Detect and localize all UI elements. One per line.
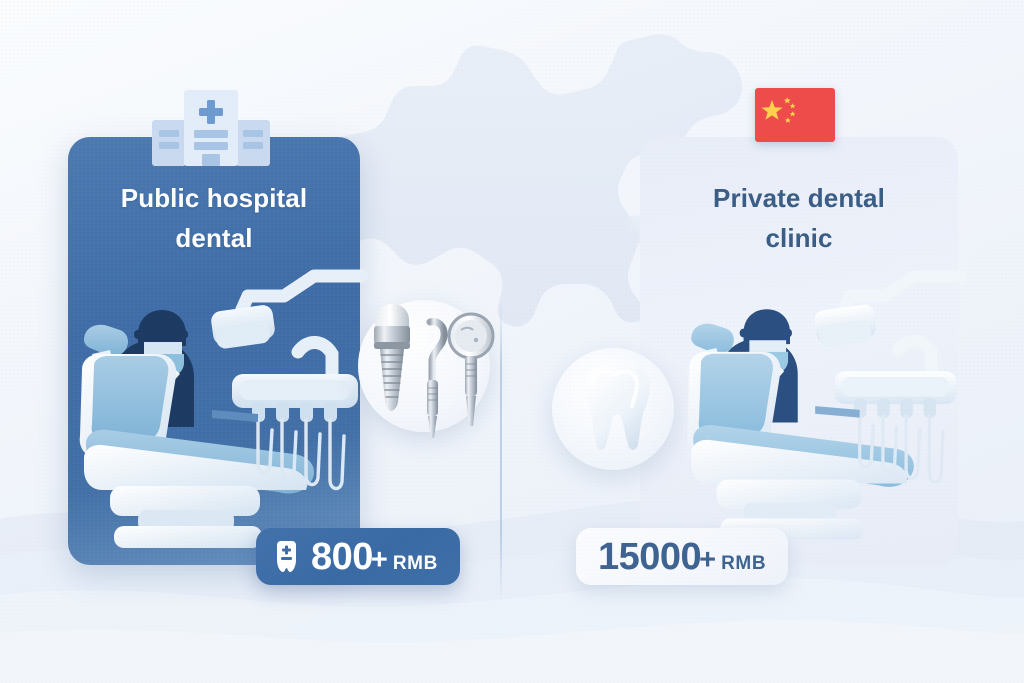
private-clinic-title-line1: Private dental [713, 183, 885, 213]
dental-implant-screw-icon [374, 304, 410, 411]
hospital-building-icon [150, 88, 272, 166]
private-clinic-dental-chair-scene [670, 262, 970, 554]
dental-instruments-circle [358, 300, 490, 432]
public-hospital-title: Public hospital dental [68, 179, 360, 258]
private-clinic-price-currency: RMB [721, 554, 766, 573]
public-hospital-price-plus: + [371, 546, 388, 575]
private-clinic-title-line2: clinic [765, 223, 832, 253]
public-hospital-price-amount: 800 [311, 538, 373, 576]
comparison-infographic: Public hospital dental [0, 0, 1024, 683]
china-flag-icon [755, 88, 835, 142]
molar-tooth-circle [552, 348, 674, 470]
overhead-light-head [813, 303, 877, 347]
private-clinic-price-plus: + [699, 546, 716, 575]
public-hospital-dental-chair-scene [62, 262, 372, 562]
overhead-light-head [210, 304, 276, 350]
mouth-mirror-icon [449, 314, 493, 426]
dental-chair [80, 325, 314, 548]
dental-scaler-icon [427, 322, 444, 438]
private-clinic-price-amount: 15000 [598, 538, 701, 576]
public-hospital-title-line1: Public hospital [121, 183, 307, 213]
dental-chair [687, 324, 914, 540]
public-hospital-price-currency: RMB [393, 554, 438, 573]
private-clinic-title: Private dental clinic [640, 179, 958, 258]
public-hospital-price-badge: 800 + RMB [256, 528, 460, 585]
molar-tooth-icon [586, 366, 650, 450]
private-clinic-price-badge: 15000 + RMB [576, 528, 788, 585]
public-hospital-title-line2: dental [175, 223, 252, 253]
tooth-plus-minus-icon [273, 541, 300, 572]
